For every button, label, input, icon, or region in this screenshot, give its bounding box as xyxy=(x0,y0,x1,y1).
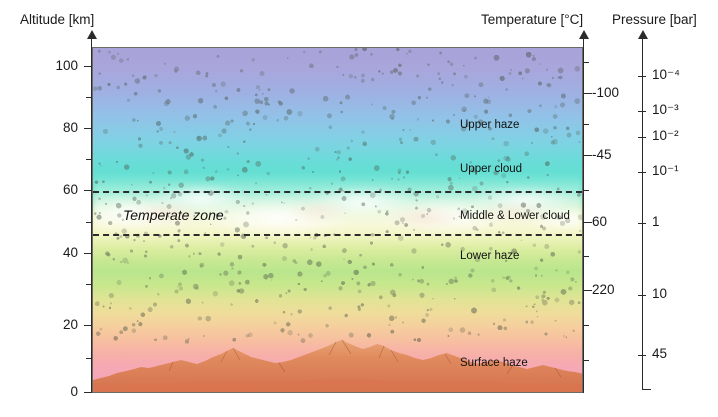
altitude-tick-60 xyxy=(84,190,92,191)
pressure-tick-1 xyxy=(638,223,646,224)
pressure-label-10: 10 xyxy=(652,286,667,301)
pressure-axis-line xyxy=(642,38,643,390)
temperature-tick-minor-4 xyxy=(584,256,589,257)
temperate-zone-label: Temperate zone xyxy=(123,207,224,223)
pressure-tick-1e-3 xyxy=(638,111,646,112)
pressure-tick-1e-2 xyxy=(638,137,646,138)
atmosphere-plot-area: Temperate zone Upper haze Upper cloud Mi… xyxy=(92,47,583,393)
pressure-label-1e-4: 10⁻⁴ xyxy=(652,67,680,83)
pressure-axis-title: Pressure [bar] xyxy=(612,12,697,27)
pressure-tick-1e-1 xyxy=(638,172,646,173)
pressure-axis-arrow xyxy=(638,30,648,39)
pressure-axis-bottom-cap xyxy=(642,389,651,390)
temperature-tick-minus45 xyxy=(584,155,592,156)
temperature-axis-title: Temperature [°C] xyxy=(481,12,583,27)
altitude-tick-50 xyxy=(86,222,91,223)
temperate-zone-bottom-boundary xyxy=(93,234,582,236)
layer-label-upper-cloud: Upper cloud xyxy=(460,163,522,175)
pressure-label-1: 1 xyxy=(652,214,660,229)
layer-label-lower-haze: Lower haze xyxy=(460,250,519,262)
temperature-tick-minor-2 xyxy=(584,124,589,125)
temperature-label-220: 220 xyxy=(592,282,615,297)
temperature-tick-minor-6 xyxy=(584,360,589,361)
altitude-label-0: 0 xyxy=(26,384,78,399)
altitude-tick-40 xyxy=(84,253,92,254)
pressure-label-45: 45 xyxy=(652,346,667,361)
altitude-axis-title: Altitude [km] xyxy=(20,12,94,27)
altitude-label-80: 80 xyxy=(26,120,78,135)
altitude-tick-0 xyxy=(84,392,92,393)
layer-label-upper-haze: Upper haze xyxy=(460,119,519,131)
altitude-label-60: 60 xyxy=(26,182,78,197)
pressure-tick-45 xyxy=(638,355,646,356)
layer-label-middle-lower-cloud: Middle & Lower cloud xyxy=(460,210,570,222)
altitude-label-100: 100 xyxy=(26,58,78,73)
altitude-tick-30 xyxy=(86,284,91,285)
altitude-tick-80 xyxy=(84,128,92,129)
altitude-tick-20 xyxy=(84,325,92,326)
altitude-tick-70 xyxy=(86,159,91,160)
temperature-tick-220 xyxy=(584,290,592,291)
temperature-tick-minor-3 xyxy=(584,190,589,191)
altitude-tick-90 xyxy=(86,97,91,98)
pressure-label-1e-3: 10⁻³ xyxy=(652,102,679,118)
temperature-label-minus100: -100 xyxy=(592,85,619,100)
temperature-axis-line xyxy=(583,38,584,393)
pressure-label-1e-1: 10⁻¹ xyxy=(652,163,679,179)
altitude-tick-10 xyxy=(86,358,91,359)
altitude-label-40: 40 xyxy=(26,245,78,260)
altitude-tick-100 xyxy=(84,66,92,67)
altitude-axis-arrow xyxy=(87,30,97,39)
altitude-label-20: 20 xyxy=(26,317,78,332)
altitude-axis-line xyxy=(91,38,92,393)
temperate-zone-top-boundary xyxy=(93,191,582,193)
pressure-label-1e-2: 10⁻² xyxy=(652,128,679,144)
pressure-tick-10 xyxy=(638,295,646,296)
temperature-label-minus45: -45 xyxy=(592,147,612,162)
pressure-tick-1e-4 xyxy=(638,76,646,77)
temperature-axis-arrow xyxy=(579,30,589,39)
temperature-tick-60 xyxy=(584,222,592,223)
temperature-tick-minus100 xyxy=(584,93,592,94)
temperature-label-60: 60 xyxy=(592,214,607,229)
temperature-tick-minor-5 xyxy=(584,325,589,326)
layer-label-surface-haze: Surface haze xyxy=(460,357,528,369)
temperature-tick-minor-1 xyxy=(584,62,589,63)
